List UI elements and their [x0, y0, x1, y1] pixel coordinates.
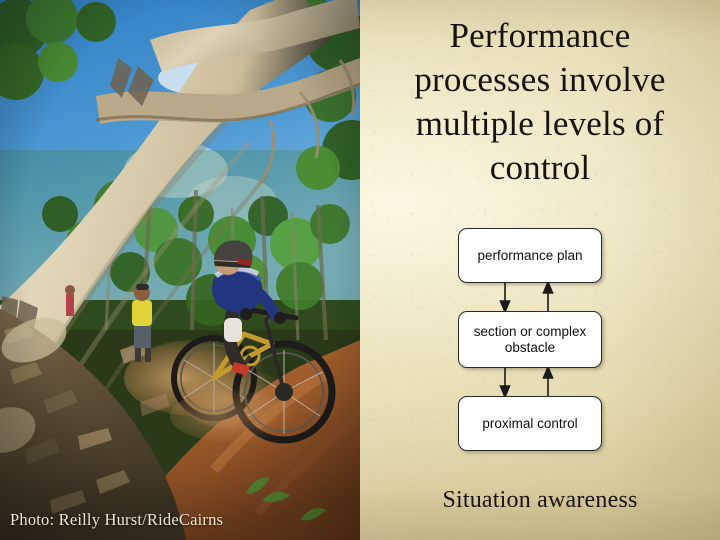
- title-line-2: processes involve: [372, 58, 708, 102]
- flowchart-node-label: proximal control: [482, 416, 577, 432]
- slide-caption-situation-awareness: Situation awareness: [372, 487, 708, 514]
- flowchart-connector-bottom: [458, 368, 602, 396]
- flowchart-node-performance-plan: performance plan: [458, 228, 602, 283]
- title-line-1: Performance: [372, 14, 708, 58]
- flowchart-node-label: section or complex obstacle: [459, 324, 601, 356]
- flowchart-node-section-or-complex-obstacle: section or complex obstacle: [458, 311, 602, 368]
- slide-title: Performance processes involve multiple l…: [372, 14, 708, 190]
- title-line-3: multiple levels of: [372, 102, 708, 146]
- control-levels-flowchart: performance plan section or complex obst…: [458, 228, 602, 451]
- presentation-slide: Photo: Reilly Hurst/RideCairns Performan…: [0, 0, 720, 540]
- photo-mountain-biker: Photo: Reilly Hurst/RideCairns: [0, 0, 360, 540]
- flowchart-node-proximal-control: proximal control: [458, 396, 602, 451]
- photo-credit: Photo: Reilly Hurst/RideCairns: [10, 510, 223, 530]
- title-line-4: control: [372, 146, 708, 190]
- flowchart-node-label: performance plan: [477, 248, 582, 264]
- flowchart-connector-top: [458, 283, 602, 311]
